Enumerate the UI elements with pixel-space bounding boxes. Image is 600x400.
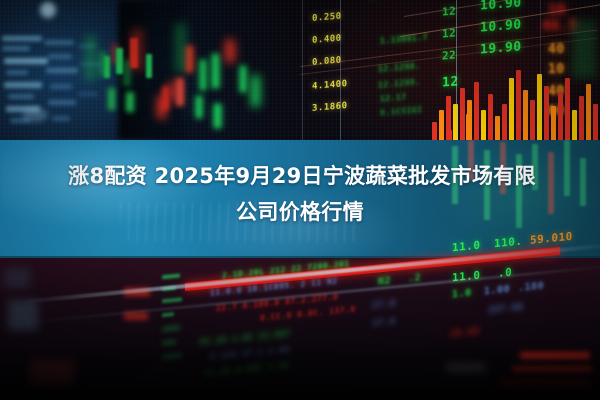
board-vline-4 (540, 0, 541, 120)
title-line-2: 公司价格行情 (0, 194, 600, 230)
volume-histogram-small (448, 96, 508, 140)
board-vline-3 (302, 0, 303, 140)
board-vline-1 (456, 0, 457, 140)
bottom-vignette (0, 340, 600, 400)
board-vline-2 (340, 0, 341, 140)
title-line-1: 涨8配资 2025年9月29日宁波蔬菜批发市场有限 (0, 158, 600, 194)
banner-title: 涨8配资 2025年9月29日宁波蔬菜批发市场有限 公司价格行情 (0, 158, 600, 230)
banner-image: 0.250 0.400 0.080 4.1400 3.1860 12.1190 … (0, 0, 600, 400)
